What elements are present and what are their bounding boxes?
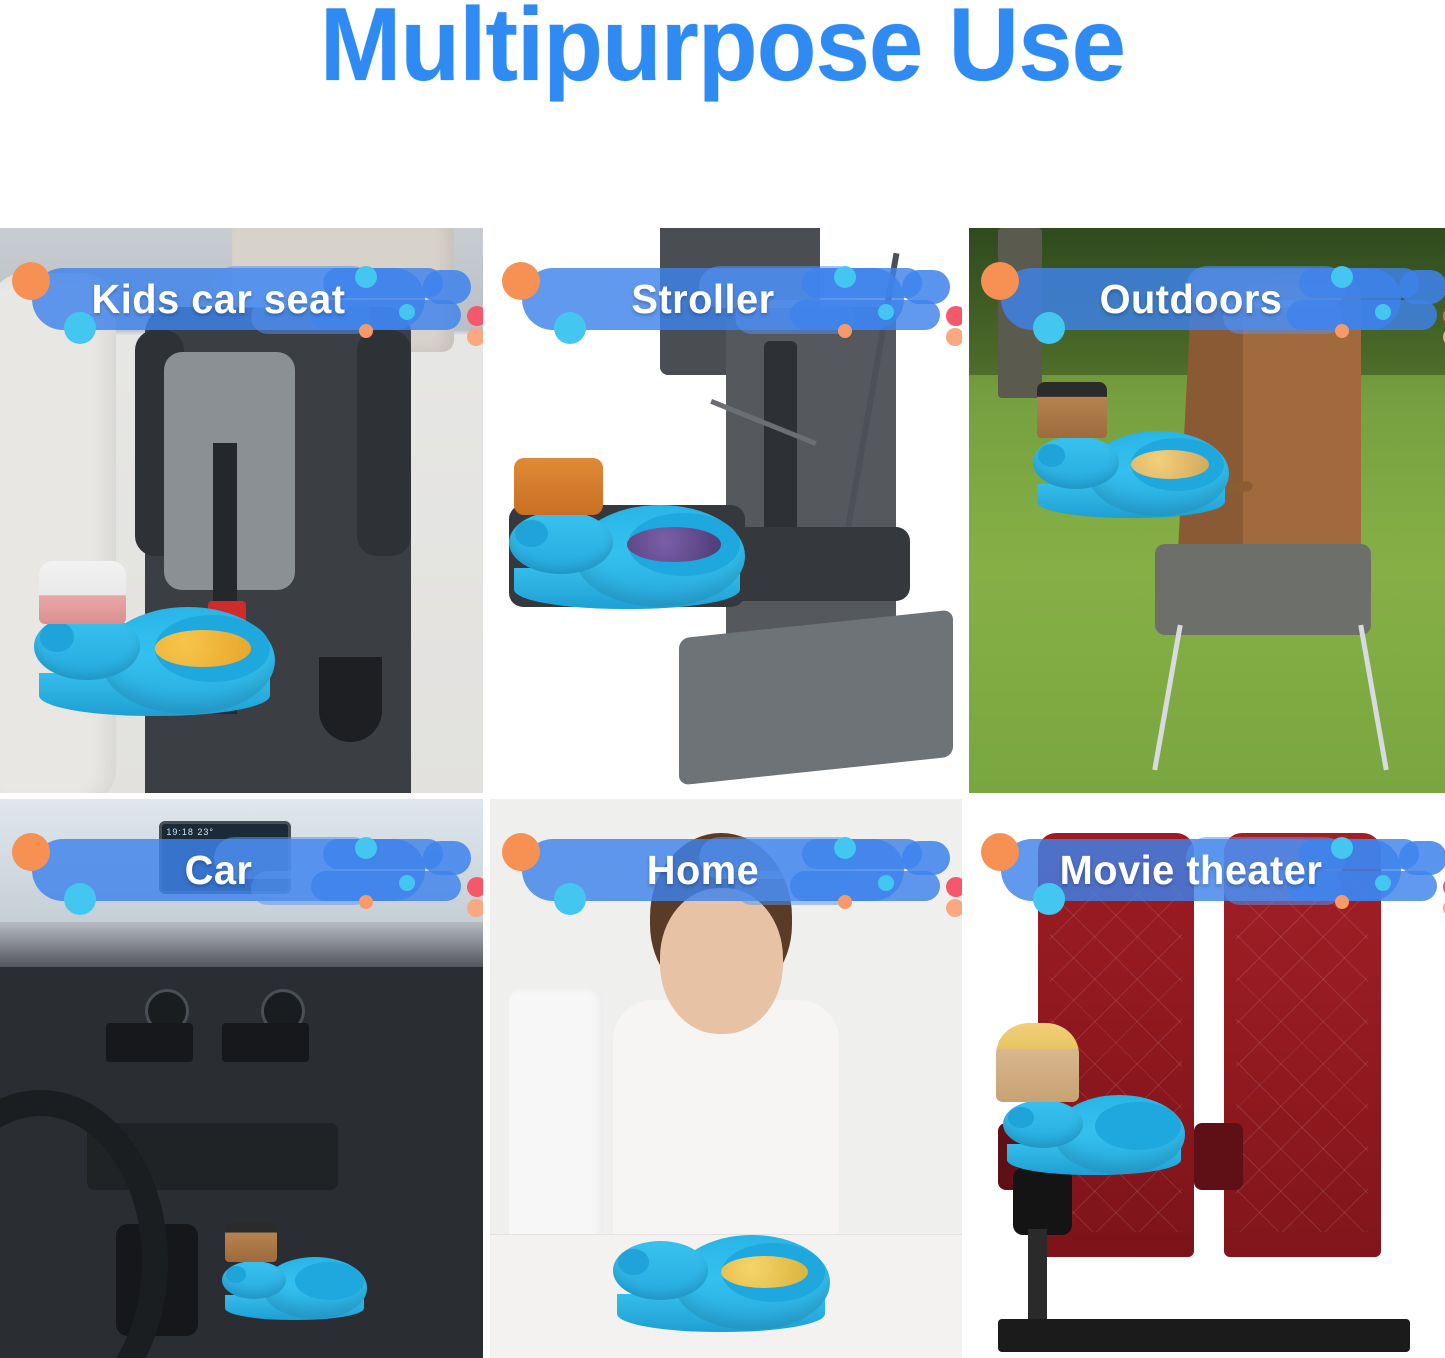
coffee-cup xyxy=(1037,382,1108,438)
panel-grid: Kids car seat xyxy=(0,228,1445,1358)
tray-cup-holder xyxy=(613,1241,709,1300)
panel-home[interactable]: Home xyxy=(490,793,962,1358)
badge-dot-peach-lower xyxy=(946,328,962,346)
orange-snack-cup xyxy=(514,458,604,515)
badge-outdoors: Outdoors xyxy=(981,262,1445,336)
tray-cup-holder xyxy=(1003,1100,1083,1149)
child-face xyxy=(660,888,783,1033)
badge-stroller: Stroller xyxy=(502,262,950,336)
tray-cup-holder xyxy=(509,511,613,574)
panel-label: Stroller xyxy=(508,262,898,336)
badge-detached-pill xyxy=(902,270,950,304)
popcorn-tub xyxy=(996,1023,1079,1101)
tray-cup-holder xyxy=(1033,436,1119,489)
coffee-cup xyxy=(225,1222,277,1263)
badge-dot-peach-lower xyxy=(946,899,962,917)
badge-detached-pill xyxy=(423,270,471,304)
tray-cup-holder-interior xyxy=(226,1266,246,1283)
seat-quilting xyxy=(1236,858,1368,1232)
tray-bowl-interior xyxy=(1095,1102,1181,1151)
stroller-seat-back xyxy=(726,307,896,657)
car-seat-cup-holder xyxy=(319,657,382,742)
badge-home: Home xyxy=(502,833,950,907)
product-tray xyxy=(1003,1095,1184,1173)
seat-base-rail xyxy=(998,1319,1410,1353)
product-tray xyxy=(222,1257,367,1318)
badge-dot-pink-upper xyxy=(946,877,962,897)
cinema-armrest-middle xyxy=(1194,1123,1243,1190)
tray-cup-holder xyxy=(222,1261,286,1299)
tray-bowl-interior xyxy=(295,1262,364,1300)
stroller-harness xyxy=(764,341,797,556)
badge-detached-pill xyxy=(423,841,471,875)
panel-label: Car xyxy=(18,833,419,907)
panel-car[interactable]: 19:18 23° xyxy=(0,793,483,1358)
tray-cup-holder-interior xyxy=(1008,1107,1034,1128)
product-tray xyxy=(34,607,276,714)
badge-detached-pill xyxy=(1399,841,1445,875)
badge-detached-pill xyxy=(902,841,950,875)
snack-grapes xyxy=(627,527,721,562)
product-tray xyxy=(509,505,745,607)
panel-outdoors[interactable]: Outdoors xyxy=(969,228,1445,793)
car-seat-side-wing-right xyxy=(357,330,410,556)
panel-kids-car-seat[interactable]: Kids car seat xyxy=(0,228,483,793)
seat-support-post xyxy=(1028,1229,1048,1330)
badge-dot-pink-upper xyxy=(946,306,962,326)
stroller-seat-base xyxy=(679,609,953,785)
panel-label: Home xyxy=(508,833,898,907)
badge-detached-pill xyxy=(1399,270,1445,304)
panel-label: Kids car seat xyxy=(18,262,419,336)
child-body xyxy=(613,1000,840,1268)
vehicle-front-seat xyxy=(0,273,116,793)
tray-cup-holder-interior xyxy=(40,622,74,651)
badge-kids-car-seat: Kids car seat xyxy=(12,262,471,336)
header: Multipurpose Use xyxy=(0,0,1445,228)
baby-bottle xyxy=(39,561,126,623)
panel-movie-theater[interactable]: Movie theater xyxy=(969,793,1445,1358)
tray-cup-holder-interior xyxy=(515,520,548,548)
badge-movie-theater: Movie theater xyxy=(981,833,1445,907)
snack-chips xyxy=(155,630,252,666)
badge-dot-pink-upper xyxy=(467,306,483,326)
camping-chair-seat xyxy=(1155,544,1371,634)
panel-label: Movie theater xyxy=(987,833,1394,907)
tray-cup-holder-interior xyxy=(618,1249,649,1275)
page-title: Multipurpose Use xyxy=(43,0,1401,100)
snack-corn xyxy=(721,1256,808,1288)
camping-chair-leg-left xyxy=(1152,624,1182,770)
badge-dot-pink-upper xyxy=(467,877,483,897)
tray-clamp xyxy=(1013,1168,1072,1235)
camping-chair-leg-right xyxy=(1358,624,1388,770)
air-vent-right xyxy=(222,1023,309,1062)
tray-cup-holder-interior xyxy=(1038,444,1066,467)
badge-car: Car xyxy=(12,833,471,907)
product-tray xyxy=(613,1235,830,1330)
panel-label: Outdoors xyxy=(987,262,1394,336)
high-chair xyxy=(509,989,603,1246)
badge-dot-peach-lower xyxy=(467,899,483,917)
snack-bowl xyxy=(1131,450,1209,479)
panel-stroller[interactable]: Stroller xyxy=(490,228,962,793)
product-tray xyxy=(1033,431,1229,516)
badge-dot-peach-lower xyxy=(467,328,483,346)
air-vent-left xyxy=(106,1023,193,1062)
